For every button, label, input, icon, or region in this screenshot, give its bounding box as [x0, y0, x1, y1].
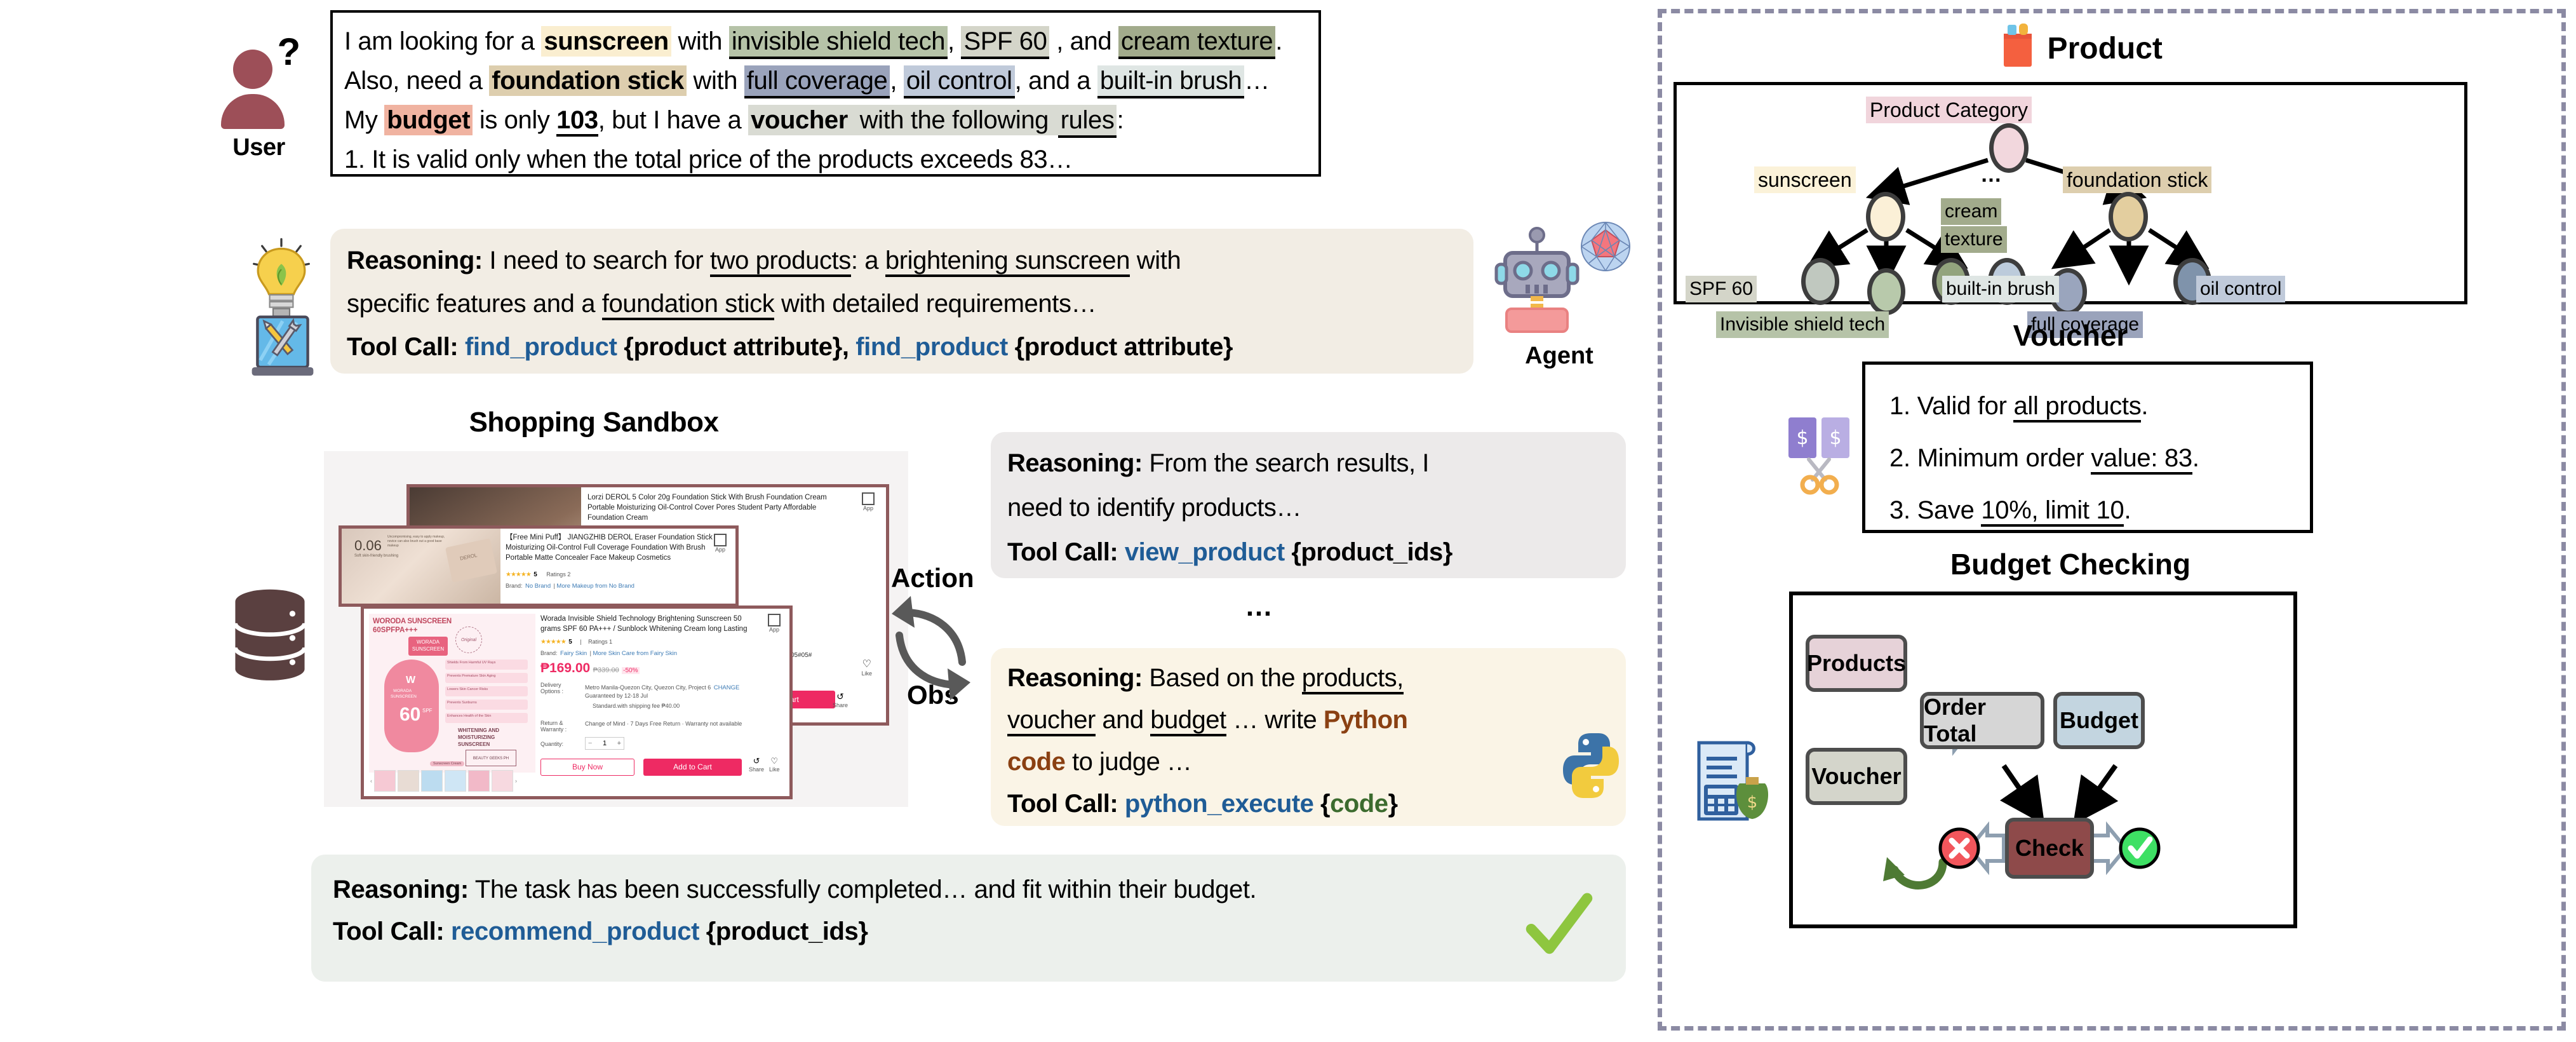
- delivery-guarantee: Guaranteed by 12-18 Jul: [585, 693, 648, 699]
- text-segment: … write: [1226, 706, 1324, 734]
- text-segment: ,: [890, 67, 903, 95]
- tree-label-root: Product Category: [1866, 97, 2032, 123]
- poster-badge-line1: WORADA: [408, 639, 448, 646]
- text-segment: 2. Minimum order: [1889, 444, 2091, 472]
- agent-final-box: Reasoning: The task has been successfull…: [311, 855, 1626, 982]
- tree-label-oil-control: oil control: [2196, 276, 2285, 302]
- poster-badge-line2: SUNSCREEN: [408, 646, 448, 653]
- text-segment: view_product: [1125, 538, 1285, 566]
- text-segment: find_product: [855, 333, 1008, 361]
- qr-app-label: App: [768, 626, 781, 633]
- qr-app-icon[interactable]: App: [714, 534, 727, 553]
- user-query-line: Also, need a foundation stick with full …: [344, 61, 1308, 100]
- return-label: Return & Warranty :: [540, 720, 579, 733]
- text-segment: and: [1096, 706, 1150, 734]
- qr-app-icon[interactable]: App: [768, 614, 781, 633]
- tree-node-invisible-shield: [1867, 268, 1905, 315]
- delivery-label: Delivery Options :: [540, 682, 579, 694]
- rating-value: 5: [533, 571, 537, 578]
- text-segment: ,: [842, 333, 855, 361]
- ratings-count: Ratings 2: [546, 571, 570, 578]
- thumb-next-arrow[interactable]: ›: [515, 778, 517, 784]
- text-segment: Python: [1324, 706, 1408, 734]
- poster-bullet: Prevents Sunburns: [445, 700, 528, 710]
- text-segment: …: [1244, 67, 1270, 95]
- text-segment: .: [1275, 27, 1282, 55]
- text-segment: Tool Call:: [347, 333, 465, 361]
- share-label: Share: [749, 766, 764, 773]
- action-label: Action: [891, 563, 974, 593]
- text-segment: , and: [1049, 27, 1118, 55]
- text-segment: oil control: [904, 65, 1015, 98]
- poster-brand-line1: WORODA SUNSCREEN: [373, 618, 452, 625]
- user-query-line: 1. It is valid only when the total price…: [344, 140, 1308, 179]
- reasoning-line: voucher and budget … write Python: [1007, 699, 1626, 741]
- text-segment: two products: [710, 247, 851, 277]
- ratings-count: Ratings 1: [588, 639, 612, 645]
- product-card-foundation-jiangzhib[interactable]: 0.06 Soft skin-friendly brushing Uncompr…: [339, 525, 739, 607]
- text-segment: find_product: [465, 333, 617, 361]
- text-segment: python_execute: [1125, 790, 1314, 818]
- text-segment: Also, need a: [344, 67, 489, 95]
- poster-seal: Original: [455, 626, 482, 653]
- text-segment: 103: [556, 106, 598, 137]
- text-segment: .: [2141, 392, 2148, 420]
- voucher-rule: 2. Minimum order value: 83.: [1889, 432, 2310, 484]
- text-segment: : a: [851, 247, 885, 274]
- svg-text:$: $: [1796, 427, 1808, 449]
- text-segment: {product_ids}: [699, 917, 868, 945]
- reasoning-line: Reasoning: Based on the products,: [1007, 657, 1626, 699]
- text-segment: 3. Save: [1889, 496, 1981, 524]
- rating-value: 5: [568, 639, 572, 646]
- poster-bullet: Enhances Health of the Skin: [445, 713, 528, 723]
- quantity-value: 1: [603, 740, 607, 747]
- text-segment: 1. It is valid only when the total price…: [344, 145, 1073, 173]
- text-segment: Tool Call:: [333, 917, 451, 945]
- thumb-metric: 0.06: [354, 538, 382, 554]
- agent-avatar: Agent: [1480, 216, 1639, 370]
- poster-bullet: Prevents Premature Skin Aging: [445, 673, 528, 683]
- quantity-label: Quantity:: [540, 741, 563, 747]
- toolcall-line: Tool Call: find_product {product attribu…: [347, 325, 1458, 369]
- reasoning-line: code to judge …: [1007, 741, 1626, 783]
- text-segment: cream texture: [1118, 26, 1275, 59]
- price-current: ₱169.00: [540, 661, 590, 675]
- text-segment: , but I have a: [598, 106, 748, 134]
- like-button[interactable]: ♡ Like: [861, 658, 872, 677]
- text-segment: :: [1117, 106, 1124, 134]
- toolcall-line: Tool Call: python_execute {code}: [1007, 783, 1626, 825]
- poster-caption: Sunscreen Cream: [430, 761, 464, 766]
- database-icon: [225, 588, 314, 683]
- text-segment: Tool Call:: [1007, 538, 1125, 566]
- delivery-address: Metro Manila-Quezon City, Quezon City, P…: [585, 684, 711, 691]
- poster-stamp: BEAUTY GEEKS PH: [466, 750, 516, 766]
- brand-more-link[interactable]: More Skin Care from Fairy Skin: [593, 650, 678, 657]
- add-to-cart-button[interactable]: Add to Cart: [643, 759, 742, 776]
- text-segment: with: [1130, 247, 1181, 274]
- bottle-spf-sub: SPF: [422, 708, 433, 714]
- tree-label-foundation-stick: foundation stick: [2063, 166, 2211, 193]
- figure-root: ? User I am looking for a sunscreen with…: [0, 0, 2576, 1042]
- like-button[interactable]: ♡ Like: [769, 756, 780, 773]
- voucher-rule: 3. Save 10%, limit 10.: [1889, 484, 2310, 536]
- card-title: 【Free Mini Puff】 JIANGZHIB DEROL Eraser …: [506, 532, 728, 563]
- text-segment: with the following: [850, 105, 1058, 135]
- product-title: Product: [2048, 31, 2163, 66]
- tree-node-spf60: [1801, 258, 1839, 305]
- text-segment: }: [1388, 790, 1397, 818]
- sandbox-title: Shopping Sandbox: [416, 407, 772, 438]
- brand-more-link[interactable]: More Makeup from No Brand: [556, 583, 634, 590]
- price-original: ₱339.00: [593, 666, 619, 674]
- text-segment: {product attribute}: [617, 333, 842, 361]
- curved-arrow-down-icon: [889, 629, 972, 705]
- text-segment: with: [687, 67, 744, 95]
- share-button[interactable]: ↺ Share: [749, 756, 764, 773]
- card-title: Lorzi DEROL 5 Color 20g Foundation Stick…: [587, 492, 854, 523]
- poster-footer2: MOISTURIZING: [458, 734, 499, 741]
- like-label: Like: [769, 766, 780, 773]
- tree-node-sunscreen: [1866, 192, 1905, 241]
- text-segment: sunscreen: [541, 26, 671, 57]
- text-segment: {product attribute}: [1008, 333, 1233, 361]
- product-section-header: Product: [1726, 25, 2437, 72]
- poster-bullet: Shields From Harmful UV Rays: [445, 660, 528, 670]
- budget-node-voucher: Voucher: [1806, 748, 1907, 805]
- voucher-title: Voucher: [1674, 318, 2467, 353]
- text-segment: with: [671, 27, 729, 55]
- poster-footer1: WHITENING AND: [458, 727, 499, 734]
- text-segment: foundation stick: [602, 290, 775, 320]
- text-segment: I am looking for a: [344, 27, 541, 55]
- text-segment: ,: [948, 27, 961, 55]
- product-tree-box: Product Category sunscreen foundation st…: [1674, 82, 2467, 304]
- svg-text:$: $: [1747, 793, 1758, 812]
- brand-link[interactable]: No Brand: [525, 583, 551, 590]
- tools-laptop-icon: [248, 311, 318, 381]
- text-segment: Based on the: [1143, 664, 1302, 692]
- agent-step1-box: Reasoning: I need to search for two prod…: [330, 229, 1473, 374]
- brand-prefix: Brand:: [540, 650, 558, 656]
- text-segment: I need to search for: [483, 247, 710, 274]
- tree-label-sunscreen: sunscreen: [1754, 166, 1856, 193]
- knowledge-panel: Product: [1658, 9, 2566, 1031]
- toolcall-line: Tool Call: recommend_product {product_id…: [333, 910, 1626, 952]
- brand-link[interactable]: Fairy Skin: [560, 650, 587, 657]
- poster-bullets: Shields From Harmful UV Rays Prevents Pr…: [445, 660, 528, 723]
- text-segment: My: [344, 106, 384, 134]
- bottle-brand2: SUNSCREEN: [391, 694, 417, 699]
- thumb-sub: Soft skin-friendly brushing: [354, 554, 399, 558]
- left-pipeline-column: ? User I am looking for a sunscreen with…: [0, 0, 1651, 1042]
- product-box-icon: [2000, 22, 2036, 69]
- robot-icon: [1480, 216, 1639, 337]
- text-segment: .: [2124, 496, 2131, 524]
- text-segment: {product_ids}: [1285, 538, 1452, 566]
- text-segment: value: 83: [2091, 444, 2192, 475]
- user-avatar: ? User: [191, 19, 327, 161]
- text-segment: voucher: [748, 105, 850, 135]
- text-segment: rules: [1058, 105, 1117, 138]
- steps-ellipsis: …: [1245, 591, 1275, 623]
- bottle-spf: 60: [399, 704, 420, 726]
- text-segment: From the search results, I: [1143, 449, 1429, 477]
- text-segment: 10%, limit 10: [1981, 496, 2124, 527]
- user-question-icon: ?: [218, 38, 300, 124]
- return-text: Change of Mind · 7 Days Free Return · Wa…: [585, 721, 742, 727]
- text-segment: full coverage: [744, 65, 890, 98]
- green-check-circle-icon: [2118, 816, 2161, 880]
- user-query-box: I am looking for a sunscreen with invisi…: [330, 10, 1321, 177]
- bottle-letter: W: [406, 675, 415, 686]
- tree-label-cream-texture-line2: texture: [1941, 226, 2007, 253]
- tree-label-built-in-brush: built-in brush: [1942, 276, 2059, 302]
- text-segment: 1. Valid for: [1889, 392, 2013, 420]
- share-label: Share: [833, 702, 848, 708]
- rating-stars: ★★★★★: [540, 639, 566, 646]
- discount-badge: -50%: [622, 667, 639, 674]
- card-title: Worada Invisible Shield Technology Brigh…: [540, 614, 756, 634]
- text-segment: built-in brush: [1097, 65, 1244, 98]
- agent-step3-box: Reasoning: Based on the products, vouche…: [991, 648, 1626, 826]
- tree-node-foundation-stick: [2109, 192, 2148, 241]
- text-segment: need to identify products…: [1007, 494, 1301, 522]
- thumbnail-strip[interactable]: ‹ ›: [370, 769, 534, 792]
- tree-label-cream-texture-line1: cream: [1941, 198, 2001, 225]
- bottle-brand1: WORADA: [393, 689, 412, 693]
- text-segment: budget: [1150, 706, 1226, 736]
- share-button[interactable]: ↺ Share: [833, 691, 848, 708]
- qr-app-label: App: [862, 505, 875, 511]
- thumb-prev-arrow[interactable]: ‹: [370, 778, 372, 784]
- text-segment: budget: [384, 105, 473, 135]
- user-query-line: My budget is only 103, but I have a vouc…: [344, 100, 1308, 140]
- poster-footer3: SUNSCREEN: [458, 741, 499, 748]
- user-label: User: [191, 134, 327, 161]
- budget-node-budget: Budget: [2053, 692, 2145, 749]
- text-segment: code: [1330, 790, 1388, 818]
- tree-label-spf60: SPF 60: [1686, 276, 1757, 302]
- agent-step2-box: Reasoning: From the search results, I ne…: [991, 432, 1626, 578]
- text-segment: Tool Call:: [1007, 790, 1125, 818]
- text-segment: to judge …: [1065, 748, 1191, 776]
- text-segment: .: [2192, 444, 2199, 472]
- text-segment: specific features and a: [347, 290, 602, 318]
- text-segment: products,: [1302, 664, 1404, 694]
- voucher-rule: 1. Valid for all products.: [1889, 380, 2310, 432]
- text-segment: {: [1313, 790, 1330, 818]
- rating-stars: ★★★★★: [506, 571, 531, 578]
- budget-node-order-total: Order Total: [1920, 692, 2044, 749]
- budget-title: Budget Checking: [1674, 547, 2467, 581]
- reasoning-line: need to identify products…: [1007, 485, 1626, 530]
- poster-bullet: Lowers Skin Cancer Risks: [445, 686, 528, 696]
- red-x-icon: [1938, 816, 1981, 880]
- budget-flow-box: Products Voucher Order Total Budget Chec…: [1789, 592, 2297, 928]
- text-segment: SPF 60: [961, 26, 1049, 59]
- voucher-scissors-icon: $ $: [1786, 414, 1856, 496]
- text-segment: brightening sunscreen: [885, 247, 1130, 277]
- text-segment: is only: [473, 106, 556, 134]
- thumb-note: Uncompromising, easy to apply makeup, no…: [387, 535, 448, 548]
- toolcall-line: Tool Call: view_product {product_ids}: [1007, 530, 1626, 574]
- delivery-change-link[interactable]: CHANGE: [714, 684, 740, 691]
- reasoning-line: Reasoning: I need to search for two prod…: [347, 239, 1458, 282]
- lightbulb-icon: [246, 236, 316, 319]
- budget-node-check: Check: [2005, 818, 2094, 879]
- reasoning-line: Reasoning: From the search results, I: [1007, 441, 1626, 485]
- agent-label: Agent: [1480, 342, 1639, 370]
- product-card-sunscreen-worada[interactable]: WORODA SUNSCREEN 60SPFPA+++ WORADA SUNSC…: [361, 606, 793, 799]
- green-check-icon: [1524, 893, 1594, 963]
- budget-node-products: Products: [1806, 635, 1907, 692]
- text-segment: Reasoning:: [347, 247, 483, 274]
- text-segment: Reasoning:: [333, 876, 469, 903]
- text-segment: code: [1007, 748, 1065, 776]
- reasoning-line: Reasoning: The task has been successfull…: [333, 869, 1626, 910]
- poster-brand-line2: 60SPFPA+++: [373, 626, 417, 634]
- invoice-money-icon: $: [1694, 738, 1776, 827]
- text-segment: foundation stick: [489, 65, 687, 96]
- text-segment: recommend_product: [451, 917, 699, 945]
- brand-prefix: Brand:: [506, 583, 523, 589]
- text-segment: , and a: [1015, 67, 1097, 95]
- svg-text:$: $: [1829, 427, 1841, 449]
- tree-ellipsis: …: [1980, 163, 2004, 187]
- reasoning-line: specific features and a foundation stick…: [347, 282, 1458, 325]
- python-logo-icon: [1559, 731, 1623, 801]
- text-segment: Reasoning:: [1007, 449, 1143, 477]
- quantity-stepper[interactable]: − 1 +: [585, 737, 624, 750]
- like-label: Like: [861, 670, 872, 677]
- text-segment: Reasoning:: [1007, 664, 1143, 692]
- text-segment: voucher: [1007, 706, 1096, 736]
- qr-app-icon[interactable]: App: [862, 492, 875, 511]
- user-query-line: I am looking for a sunscreen with invisi…: [344, 22, 1308, 61]
- product-poster: WORODA SUNSCREEN 60SPFPA+++ WORADA SUNSC…: [369, 614, 535, 773]
- text-segment: all products: [2013, 392, 2141, 423]
- buy-now-button[interactable]: Buy Now: [540, 759, 634, 776]
- text-segment: The task has been successfully completed…: [469, 876, 1256, 903]
- qr-app-label: App: [714, 546, 727, 553]
- text-segment: invisible shield tech: [729, 26, 948, 59]
- text-segment: with detailed requirements…: [774, 290, 1096, 318]
- delivery-standard: Standard.with shipping fee ₱40.00: [593, 703, 680, 709]
- voucher-rules-box: 1. Valid for all products. 2. Minimum or…: [1862, 362, 2313, 533]
